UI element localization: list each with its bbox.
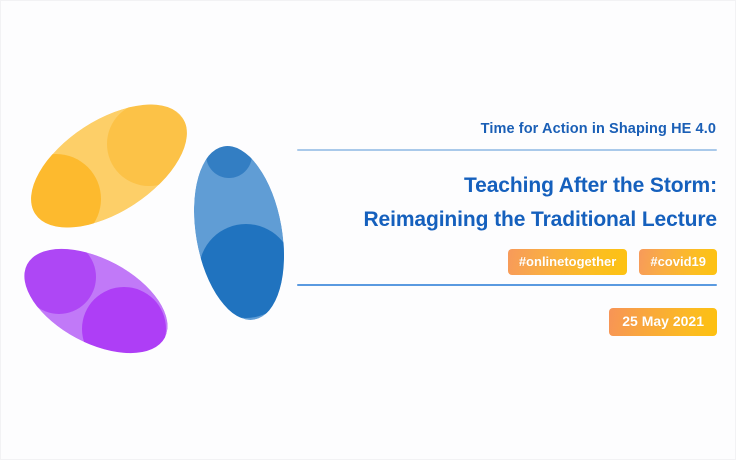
purple-petal-group	[21, 227, 185, 371]
three-petal-logo	[21, 81, 291, 371]
yellow-petal-group	[21, 81, 208, 253]
page-title: Teaching After the Storm: Reimagining th…	[297, 151, 717, 243]
title-line-2: Reimagining the Traditional Lecture	[297, 203, 717, 237]
content-column: Time for Action in Shaping HE 4.0 Teachi…	[297, 119, 717, 336]
tag-list: #onlinetogether #covid19	[297, 243, 717, 284]
tag-badge-covid19[interactable]: #covid19	[639, 249, 717, 275]
date-row: 25 May 2021	[297, 286, 717, 336]
title-line-1: Teaching After the Storm:	[297, 169, 717, 203]
tag-badge-onlinetogether[interactable]: #onlinetogether	[508, 249, 628, 275]
blue-petal-group	[181, 132, 291, 327]
event-banner: Time for Action in Shaping HE 4.0 Teachi…	[0, 0, 736, 460]
eyebrow-series-label: Time for Action in Shaping HE 4.0	[297, 119, 717, 139]
event-date-badge: 25 May 2021	[609, 308, 717, 336]
